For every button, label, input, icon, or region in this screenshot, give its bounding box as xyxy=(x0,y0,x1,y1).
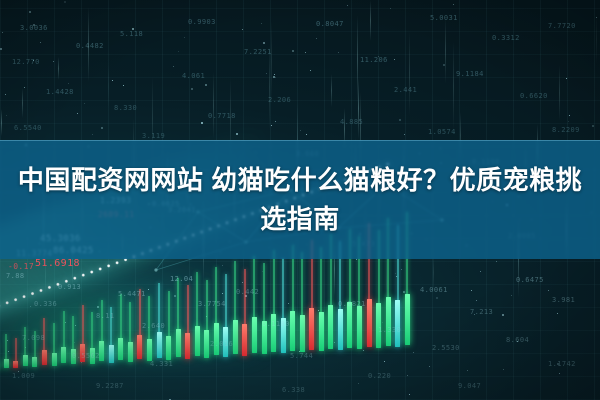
banner-title: 中国配资网网站 幼猫吃什么猫粮好？优质宠粮挑选指南 xyxy=(0,140,600,259)
banner-image: 45.303686.042511.377451.69181.23932689.1… xyxy=(0,0,600,400)
